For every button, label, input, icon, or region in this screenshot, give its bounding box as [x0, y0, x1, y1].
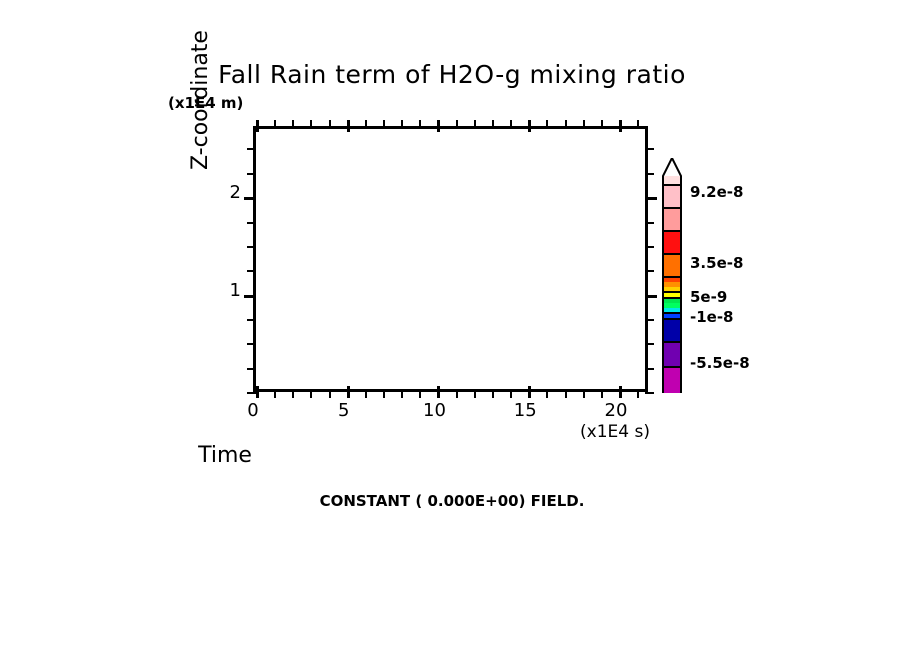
y-axis-right-tick — [645, 343, 654, 345]
x-axis-top-tick — [437, 120, 440, 132]
colorbar-tick-label: 3.5e-8 — [690, 254, 743, 272]
x-axis-tick-label: 15 — [495, 400, 555, 421]
figure-canvas: Fall Rain term of H2O-g mixing ratio (x1… — [0, 0, 904, 654]
x-axis-top-tick — [510, 120, 512, 129]
y-axis-minor-tick — [247, 148, 256, 150]
y-axis-minor-tick — [247, 173, 256, 175]
colorbar-band-separator — [664, 297, 680, 299]
x-axis-minor-tick — [492, 389, 494, 398]
y-axis-right-tick — [645, 173, 654, 175]
x-axis-major-tick — [256, 386, 259, 398]
colorbar-tick-label: -5.5e-8 — [690, 354, 750, 372]
colorbar-tick-label: 9.2e-8 — [690, 183, 743, 201]
x-axis-top-tick — [546, 120, 548, 129]
y-axis-minor-tick — [247, 368, 256, 370]
x-axis-top-tick — [419, 120, 421, 129]
colorbar-band-separator — [664, 366, 680, 368]
y-axis-minor-tick — [247, 392, 256, 394]
colorbar-band-separator — [664, 253, 680, 255]
x-axis-major-tick — [528, 386, 531, 398]
x-axis-top-tick — [256, 120, 259, 132]
x-axis-top-tick — [474, 120, 476, 129]
page-title: Fall Rain term of H2O-g mixing ratio — [0, 60, 904, 89]
x-axis-top-tick — [583, 120, 585, 129]
colorbar-tick-label: -1e-8 — [690, 308, 734, 326]
x-axis-tick-label: 0 — [223, 400, 283, 421]
x-axis-minor-tick — [310, 389, 312, 398]
x-axis-minor-tick — [456, 389, 458, 398]
colorbar-band-separator — [664, 341, 680, 343]
y-axis-right-tick — [645, 148, 654, 150]
y-axis-major-tick — [244, 295, 256, 298]
colorbar-band — [664, 208, 680, 231]
colorbar-band — [664, 342, 680, 367]
x-axis-tick-label: 5 — [314, 400, 374, 421]
x-axis-major-tick — [347, 386, 350, 398]
x-axis-top-tick — [274, 120, 276, 129]
x-axis-tick-label: 20 — [586, 400, 646, 421]
colorbar-band-separator — [664, 291, 680, 293]
y-axis-right-tick — [645, 368, 654, 370]
x-axis-top-tick — [329, 120, 331, 129]
x-axis-minor-tick — [510, 389, 512, 398]
y-axis-right-tick — [645, 222, 654, 224]
colorbar-band — [664, 367, 680, 393]
x-axis-minor-tick — [383, 389, 385, 398]
y-axis-right-tick — [645, 319, 654, 321]
y-axis-right-tick — [645, 246, 654, 248]
x-axis-tick-label: 10 — [404, 400, 464, 421]
x-axis-top-tick — [292, 120, 294, 129]
y-axis-right-tick — [645, 197, 657, 200]
x-axis-top-tick — [456, 120, 458, 129]
x-axis-major-tick — [619, 386, 622, 398]
x-axis-title: Time — [198, 443, 252, 468]
x-axis-top-tick — [565, 120, 567, 129]
y-axis-tick-label: 2 — [201, 182, 241, 203]
x-axis-minor-tick — [292, 389, 294, 398]
plot-area — [253, 126, 648, 392]
x-axis-minor-tick — [419, 389, 421, 398]
x-axis-minor-tick — [637, 389, 639, 398]
x-axis-minor-tick — [583, 389, 585, 398]
x-axis-top-tick — [383, 120, 385, 129]
x-axis-major-tick — [437, 386, 440, 398]
colorbar-band-separator — [664, 184, 680, 186]
y-axis-minor-tick — [247, 270, 256, 272]
x-axis-top-tick — [492, 120, 494, 129]
colorbar-band-separator — [664, 207, 680, 209]
x-axis-top-tick — [528, 120, 531, 132]
x-axis-minor-tick — [274, 389, 276, 398]
colorbar-band — [664, 254, 680, 277]
colorbar-band — [664, 185, 680, 208]
y-axis-title: Z-coordinate — [188, 0, 213, 170]
x-axis-minor-tick — [401, 389, 403, 398]
x-axis-top-tick — [637, 120, 639, 129]
x-axis-title-wrap: Time — [0, 443, 904, 468]
y-axis-major-tick — [244, 197, 256, 200]
y-axis-minor-tick — [247, 319, 256, 321]
y-axis-right-tick — [645, 270, 654, 272]
x-axis-top-tick — [365, 120, 367, 129]
x-axis-minor-tick — [565, 389, 567, 398]
colorbar-band — [664, 231, 680, 254]
y-axis-right-tick — [645, 392, 654, 394]
colorbar-band-separator — [664, 318, 680, 320]
x-axis-minor-tick — [546, 389, 548, 398]
x-axis-minor-tick — [365, 389, 367, 398]
x-axis-top-tick — [601, 120, 603, 129]
colorbar-band-separator — [664, 312, 680, 314]
x-axis-minor-tick — [474, 389, 476, 398]
x-axis-minor-tick — [329, 389, 331, 398]
x-axis-unit-label: (x1E4 s) — [580, 422, 650, 442]
colorbar-band-separator — [664, 230, 680, 232]
colorbar — [662, 176, 682, 393]
x-axis-top-tick — [401, 120, 403, 129]
x-axis-minor-tick — [601, 389, 603, 398]
y-axis-minor-tick — [247, 246, 256, 248]
y-axis-right-tick — [645, 295, 657, 298]
colorbar-top-arrow-icon — [662, 158, 682, 178]
x-axis-top-tick — [619, 120, 622, 132]
y-axis-minor-tick — [247, 343, 256, 345]
colorbar-band — [664, 319, 680, 342]
x-axis-top-tick — [347, 120, 350, 132]
field-status-caption: CONSTANT ( 0.000E+00) FIELD. — [0, 492, 904, 510]
y-axis-tick-label: 1 — [201, 280, 241, 301]
x-axis-top-tick — [310, 120, 312, 129]
colorbar-band-separator — [664, 276, 680, 278]
y-axis-minor-tick — [247, 222, 256, 224]
colorbar-tick-label: 5e-9 — [690, 288, 727, 306]
